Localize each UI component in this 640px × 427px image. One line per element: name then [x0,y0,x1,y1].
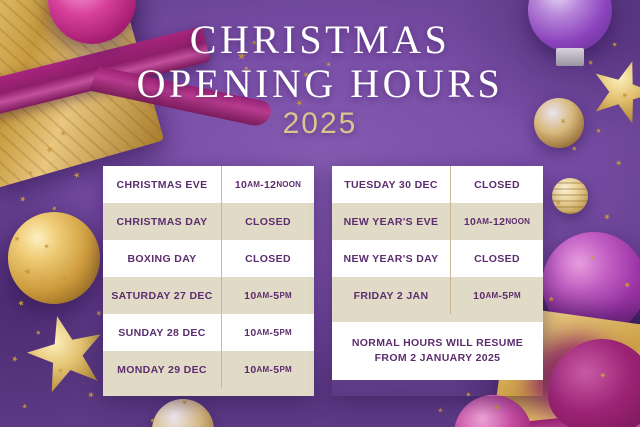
table-row: TUESDAY 30 DECCLOSED [332,166,543,203]
table-row: BOXING DAYCLOSED [103,240,314,277]
table-cell-hours: 10AM-5PM [221,351,314,388]
table-row: SUNDAY 28 DEC10AM-5PM [103,314,314,351]
bauble-gold-large-left-icon [8,212,100,304]
table-spacer [103,388,314,396]
page-title-line-1: CHRISTMAS [0,18,640,62]
table-row: NEW YEAR'S DAYCLOSED [332,240,543,277]
table-cell-hours: CLOSED [450,166,543,203]
poster-heading: CHRISTMAS OPENING HOURS 2025 [0,18,640,140]
table-cell-hours: CLOSED [221,240,314,277]
table-row: CHRISTMAS EVE10AM-12NOON [103,166,314,203]
bauble-gold-ribbed-right-icon [552,178,588,214]
table-row: SATURDAY 27 DEC10AM-5PM [103,277,314,314]
table-spacer [332,314,543,322]
table-cell-day: TUESDAY 30 DEC [332,166,450,203]
table-row: CHRISTMAS DAYCLOSED [103,203,314,240]
page-title-line-2: OPENING HOURS [0,62,640,106]
table-cell-day: SATURDAY 27 DEC [103,277,221,314]
table-cell-hours: 10AM-12NOON [221,166,314,203]
table-row: MONDAY 29 DEC10AM-5PM [103,351,314,388]
table-cell-day: NEW YEAR'S EVE [332,203,450,240]
table-cell-day: MONDAY 29 DEC [103,351,221,388]
table-cell-day: CHRISTMAS DAY [103,203,221,240]
table-cell-day: FRIDAY 2 JAN [332,277,450,314]
table-cell-hours: 10AM-5PM [221,277,314,314]
table-cell-hours: CLOSED [450,240,543,277]
opening-hours-table-right: TUESDAY 30 DECCLOSEDNEW YEAR'S EVE10AM-1… [332,166,543,396]
table-cell-day: BOXING DAY [103,240,221,277]
table-cell-day: SUNDAY 28 DEC [103,314,221,351]
table-cell-hours: 10AM-5PM [450,277,543,314]
page-title-year: 2025 [0,108,640,140]
opening-hours-tables: CHRISTMAS EVE10AM-12NOONCHRISTMAS DAYCLO… [103,166,543,396]
table-cell-day: CHRISTMAS EVE [103,166,221,203]
table-cell-hours: CLOSED [221,203,314,240]
opening-hours-table-left: CHRISTMAS EVE10AM-12NOONCHRISTMAS DAYCLO… [103,166,314,396]
table-row: NEW YEAR'S EVE10AM-12NOON [332,203,543,240]
table-cell-day: NEW YEAR'S DAY [332,240,450,277]
table-cell-hours: 10AM-5PM [221,314,314,351]
resume-hours-note: NORMAL HOURS WILL RESUMEFROM 2 JANUARY 2… [332,322,543,380]
table-row: FRIDAY 2 JAN10AM-5PM [332,277,543,314]
christmas-opening-hours-poster: CHRISTMAS OPENING HOURS 2025 CHRISTMAS E… [0,0,640,427]
table-cell-hours: 10AM-12NOON [450,203,543,240]
